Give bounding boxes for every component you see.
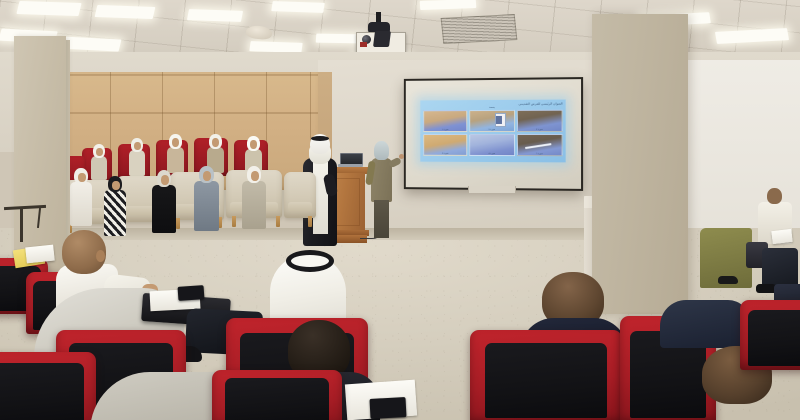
slide-cell-caption: صورة ٢ — [471, 129, 514, 131]
person-face — [212, 138, 219, 147]
projector-shell — [373, 31, 391, 47]
ceiling-light-panel — [187, 9, 243, 22]
projector-indicator — [360, 42, 367, 47]
slide-cell: صورة ٣ — [517, 110, 563, 132]
audience-member — [90, 144, 108, 178]
attendee-ear — [96, 250, 105, 262]
ceiling-light-panel — [16, 1, 81, 16]
armchair-leg — [176, 218, 180, 229]
auditorium-seat[interactable] — [470, 330, 622, 420]
slide-cell: صورة ٦ — [517, 134, 563, 156]
armchair — [284, 172, 316, 218]
audience-member — [70, 168, 92, 226]
laptop-keyboard — [338, 164, 363, 167]
slide-cell: صورة ١ — [423, 110, 467, 132]
slide-cell: صورة ٤ — [423, 134, 467, 156]
person-body — [194, 181, 219, 231]
lecture-hall-photo: العنوان الرئيسي للعرض التقديمي منصة صورة… — [0, 0, 800, 420]
slide-cell: صورة ٢ — [470, 110, 515, 132]
audience-member — [166, 134, 185, 172]
projection-screen[interactable]: العنوان الرئيسي للعرض التقديمي منصة صورة… — [404, 77, 583, 191]
right-structural-column — [592, 14, 688, 314]
audience-member — [128, 138, 146, 174]
person-face — [161, 175, 169, 185]
person-face — [112, 181, 120, 190]
seat-back-pad — [485, 343, 607, 418]
person-face — [250, 140, 257, 149]
laptop-icon — [338, 153, 362, 168]
armchair-leg — [232, 216, 236, 227]
seat-back-pad — [748, 310, 800, 366]
co-presenter-legs — [374, 200, 389, 238]
slide-cell-caption: صورة ١ — [424, 129, 466, 131]
person-face — [203, 171, 211, 181]
screen-surface: العنوان الرئيسي للعرض التقديمي منصة صورة… — [406, 79, 581, 189]
ceiling-light-panel — [95, 5, 156, 19]
person-face — [134, 142, 141, 150]
person-body — [129, 150, 145, 176]
slide-subtitle: منصة — [423, 106, 562, 110]
person-body — [242, 181, 266, 229]
person-body — [70, 182, 92, 226]
audience-member — [194, 166, 219, 230]
co-presenter — [365, 141, 399, 241]
person-face — [78, 173, 86, 182]
slide-cell-caption: صورة ٣ — [518, 129, 562, 131]
auditorium-seat[interactable] — [740, 300, 800, 370]
auditorium-seat[interactable] — [0, 352, 96, 420]
ceiling-light-panel — [271, 1, 325, 13]
speaker-igal — [311, 136, 329, 141]
shoe — [718, 276, 738, 284]
attendee-shoulders — [660, 300, 750, 348]
person-face — [96, 148, 103, 156]
seat-back-pad — [0, 363, 84, 420]
audience-member — [242, 166, 266, 228]
smartphone-icon[interactable] — [370, 397, 407, 419]
hvac-diffuser-icon — [441, 14, 518, 44]
armchair-leg — [308, 216, 312, 227]
slide-cell-caption: صورة ٦ — [518, 153, 562, 156]
smartphone-icon[interactable] — [178, 285, 205, 301]
stand-leg — [37, 208, 41, 228]
person-face — [251, 171, 259, 181]
attendee-igal — [286, 250, 334, 272]
seat-back-pad — [225, 378, 329, 420]
slide-image-grid: صورة ١ صورة ٢ صورة ٣ صورة ٤ صورة ٥ — [423, 110, 562, 157]
projected-slide: العنوان الرئيسي للعرض التقديمي منصة صورة… — [420, 100, 565, 163]
auditorium-seat[interactable] — [212, 370, 342, 420]
person-face — [172, 138, 179, 147]
slide-cell: صورة ٥ — [470, 134, 515, 156]
slide-cell-caption: صورة ٤ — [424, 152, 466, 155]
screen-housing-drop — [468, 186, 516, 193]
handout-paper — [771, 229, 792, 244]
co-presenter-hijab — [374, 141, 389, 160]
projector-icon — [352, 12, 408, 56]
stand-leg — [20, 208, 23, 242]
armchair-leg — [276, 216, 280, 227]
slide-cell-caption: صورة ٥ — [471, 153, 514, 156]
co-presenter-hand — [399, 154, 404, 159]
person-head — [767, 188, 782, 204]
